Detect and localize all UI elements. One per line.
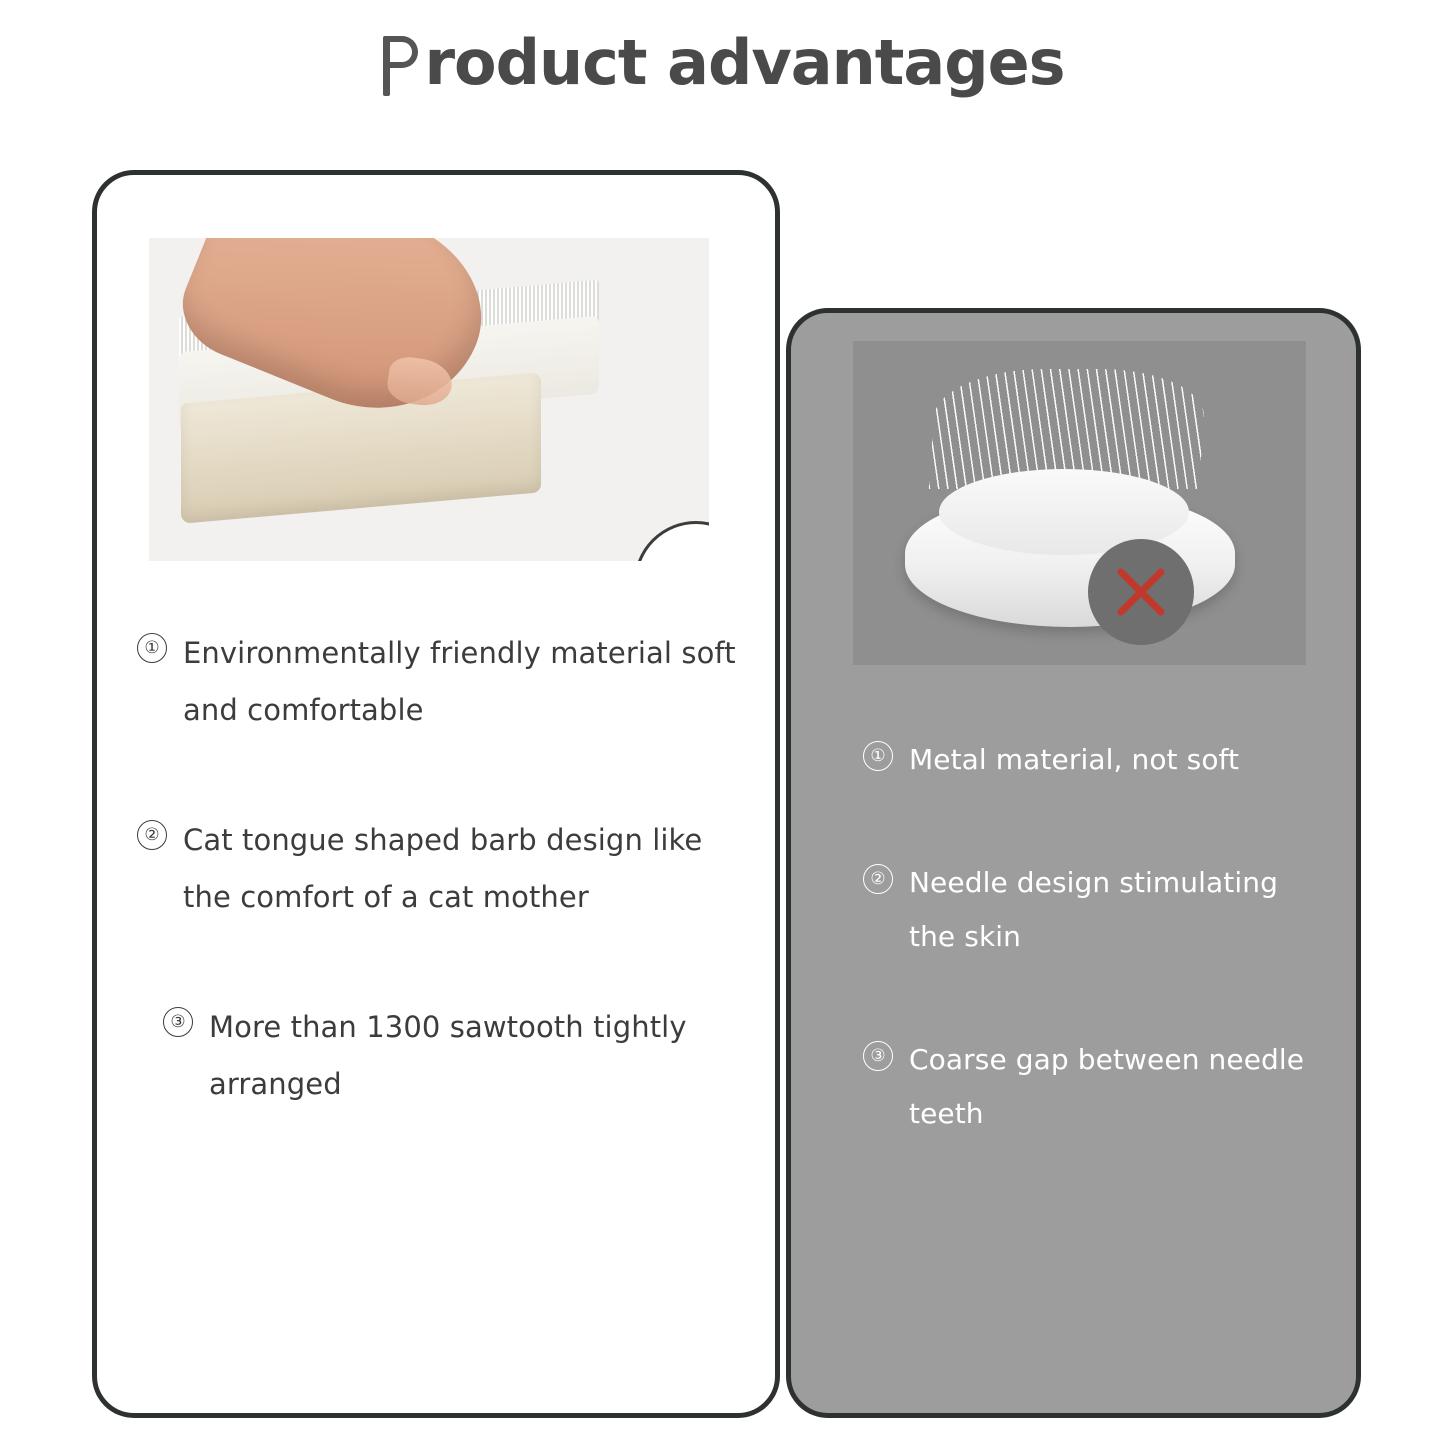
- list-item-number: ②: [863, 864, 893, 894]
- list-item-number: ①: [137, 633, 167, 663]
- list-item: ③ More than 1300 sawtooth tightly arrang…: [163, 999, 757, 1112]
- list-item-label: Cat tongue shaped barb design like the c…: [183, 812, 757, 925]
- page-title: roduct advantages: [0, 26, 1445, 99]
- check-icon: [659, 546, 709, 561]
- page-title-text: roduct advantages: [424, 26, 1064, 99]
- list-item: ① Environmentally friendly material soft…: [137, 625, 757, 738]
- list-item: ② Cat tongue shaped barb design like the…: [137, 812, 757, 925]
- list-item-label: Metal material, not soft: [909, 733, 1239, 788]
- decorative-capital-p-icon: [380, 34, 424, 94]
- advantages-panel: ① Environmentally friendly material soft…: [92, 170, 780, 1418]
- list-item-label: Coarse gap between needle teeth: [909, 1033, 1333, 1142]
- disadvantages-panel: ① Metal material, not soft ② Needle desi…: [786, 308, 1361, 1418]
- list-item-label: More than 1300 sawtooth tightly arranged: [209, 999, 757, 1112]
- check-badge: [634, 521, 709, 561]
- list-item: ③ Coarse gap between needle teeth: [863, 1033, 1333, 1142]
- list-item: ① Metal material, not soft: [863, 733, 1333, 788]
- list-item-number: ①: [863, 741, 893, 771]
- list-item: ② Needle design stimulating the skin: [863, 856, 1333, 965]
- advantages-feature-list: ① Environmentally friendly material soft…: [137, 625, 757, 1186]
- list-item-number: ③: [863, 1041, 893, 1071]
- close-icon: [1109, 560, 1173, 624]
- metal-brush-photo: [853, 341, 1306, 665]
- silicone-brush-photo: [149, 238, 709, 561]
- cross-badge: [1088, 539, 1194, 645]
- list-item-label: Environmentally friendly material soft a…: [183, 625, 757, 738]
- list-item-number: ③: [163, 1007, 193, 1037]
- list-item-number: ②: [137, 820, 167, 850]
- list-item-label: Needle design stimulating the skin: [909, 856, 1333, 965]
- disadvantages-feature-list: ① Metal material, not soft ② Needle desi…: [863, 733, 1333, 1210]
